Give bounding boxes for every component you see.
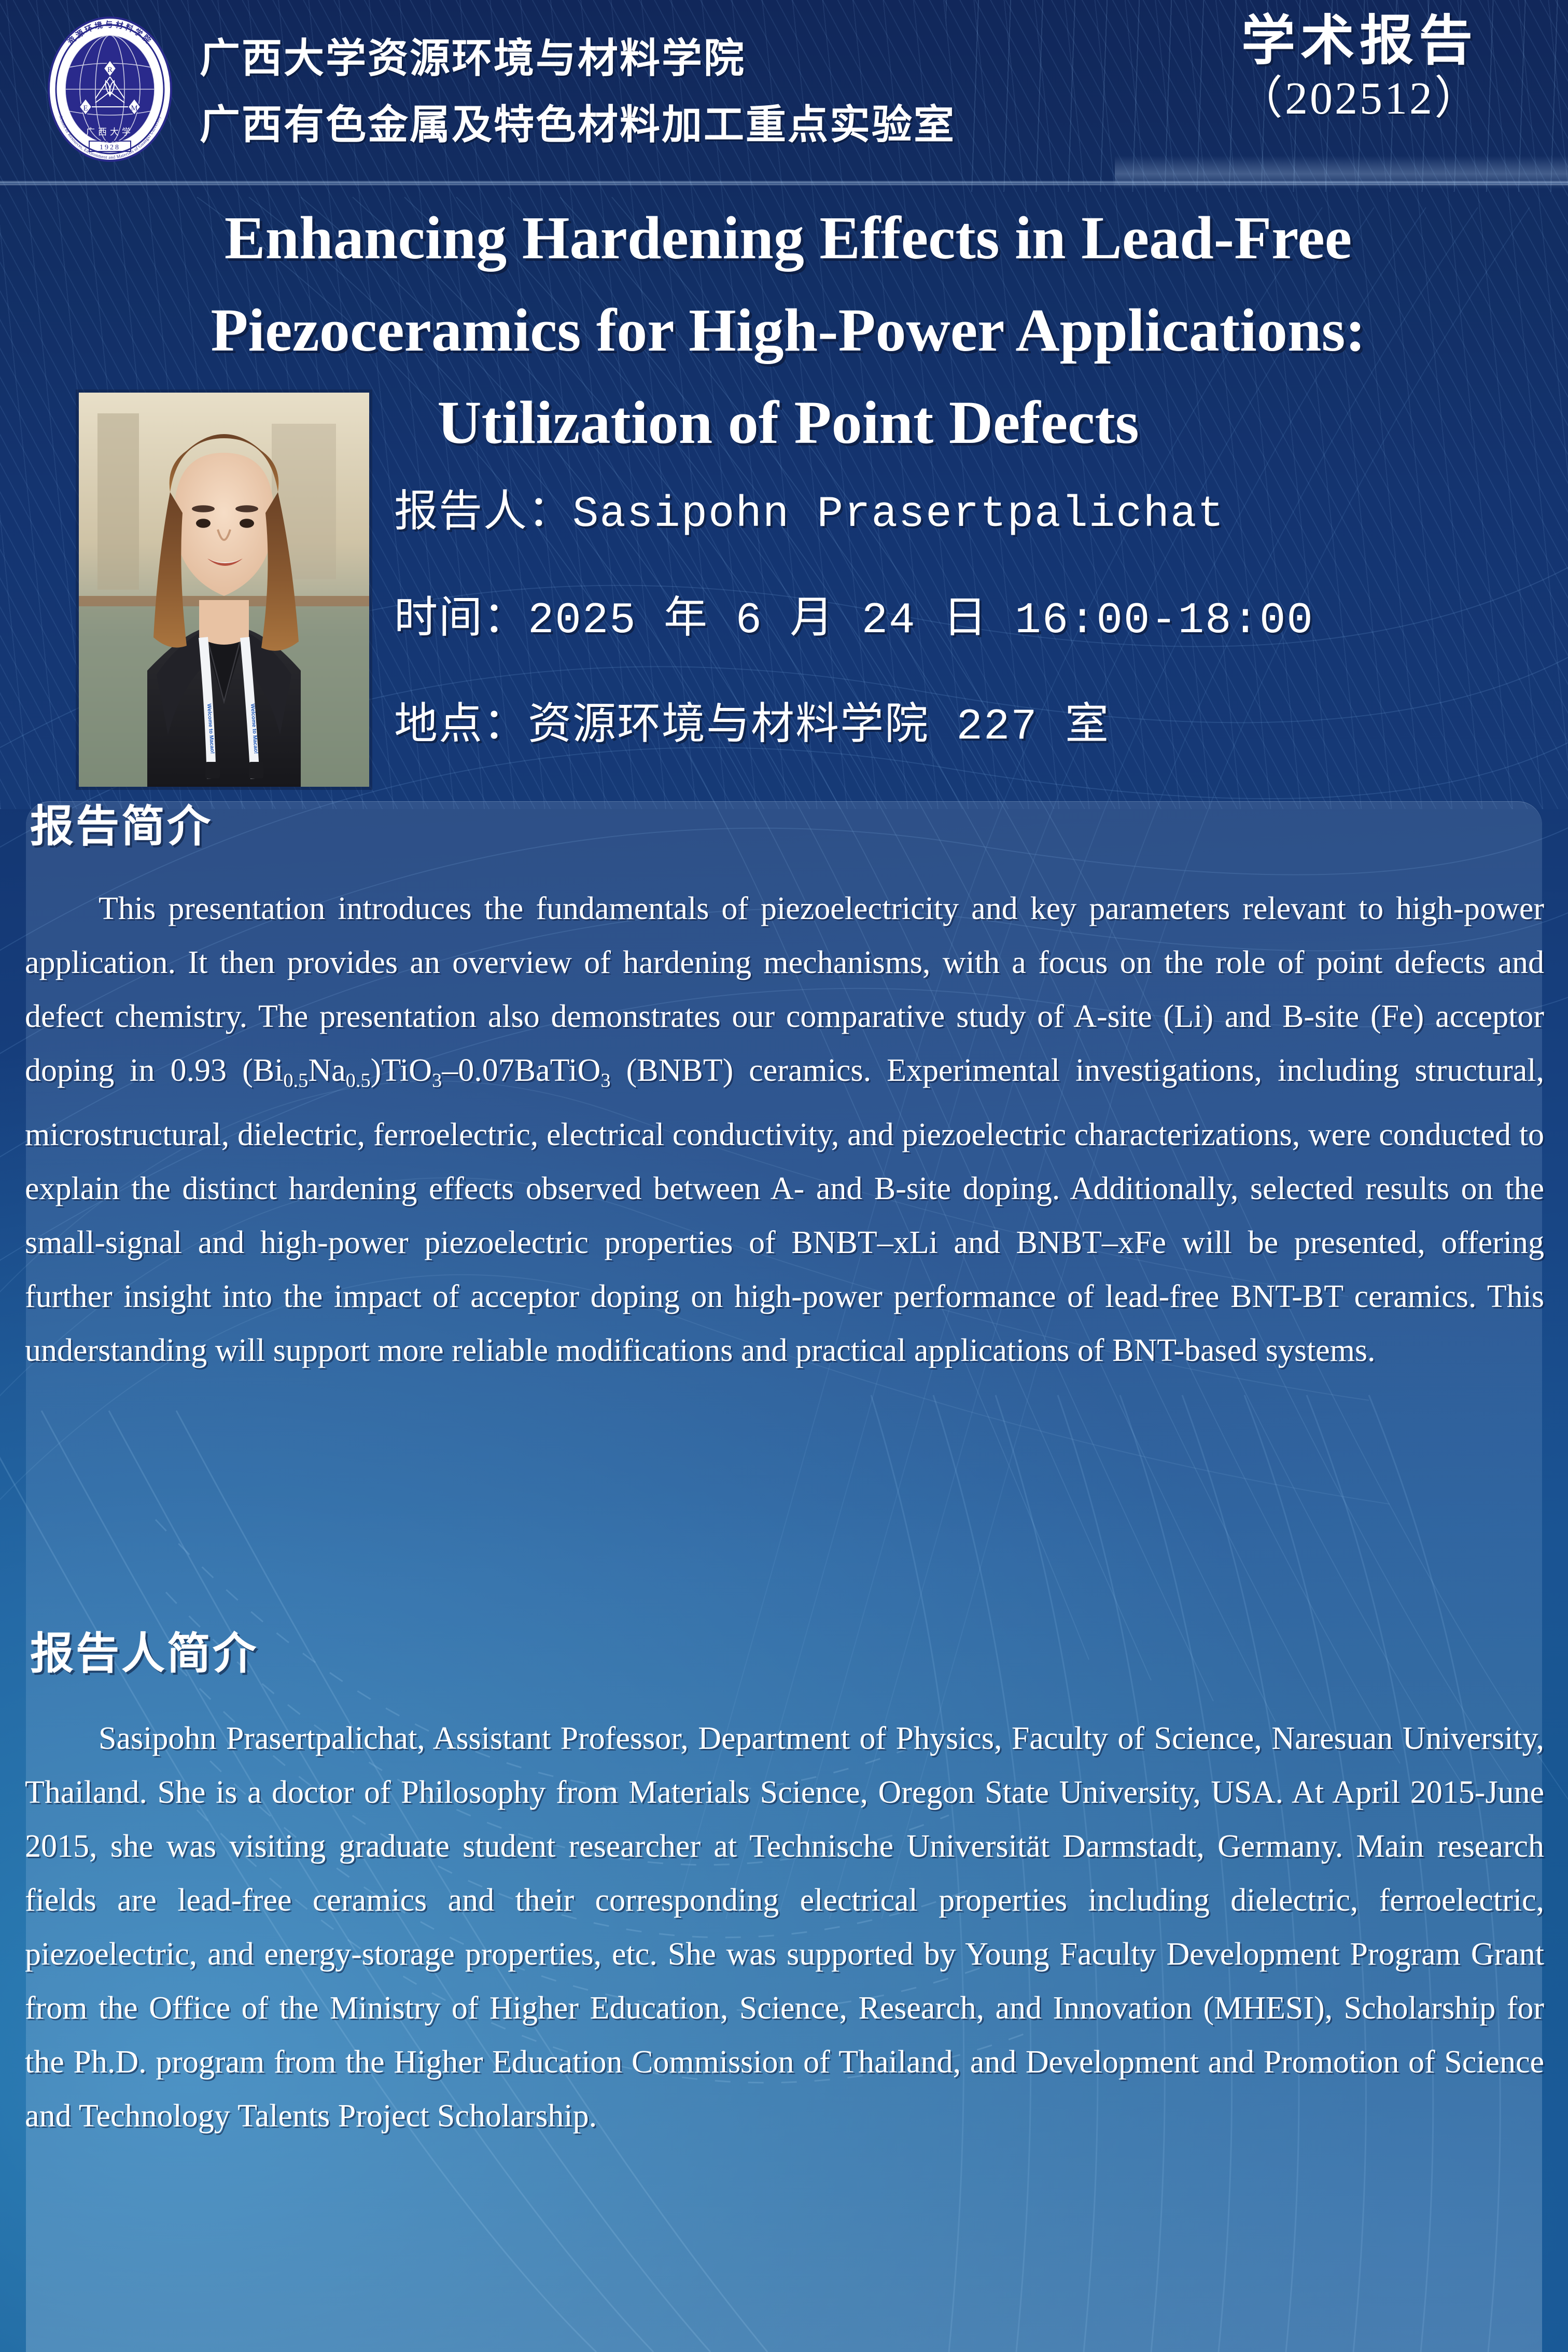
abstract-sub-4: 3 (600, 1070, 610, 1092)
abstract-sub-1: 0.5 (283, 1070, 308, 1092)
bio-heading: 报告人简介 (30, 1629, 258, 1678)
poster-header: R E M 资源环境与材料学院 (0, 0, 1568, 182)
organization-titles: 广西大学资源环境与材料学院 广西有色金属及特色材料加工重点实验室 (200, 25, 1174, 158)
svg-text:R: R (107, 66, 113, 74)
report-badge-title: 学术报告 (1178, 10, 1541, 72)
abstract-heading: 报告简介 (30, 801, 213, 851)
title-line-1: Enhancing Hardening Effects in Lead-Free (78, 192, 1499, 284)
meta-time: 时间：2025 年 6 月 24 日 16:00-18:00 (394, 568, 1561, 674)
svg-text:1928: 1928 (100, 144, 120, 151)
abstract-sub-2: 0.5 (346, 1070, 371, 1092)
organization-line-1: 广西大学资源环境与材料学院 (200, 25, 1174, 91)
svg-text:广西大学: 广西大学 (86, 127, 134, 137)
svg-text:E: E (83, 104, 88, 113)
svg-text:M: M (131, 104, 137, 113)
speaker-photo: Welcome to Macao! Welcome to Macao! (79, 393, 369, 787)
lecture-meta: 报告人：Sasipohn Prasertpalichat 时间：2025 年 6… (394, 462, 1561, 781)
abstract-body: This presentation introduces the fundame… (25, 882, 1544, 1377)
meta-speaker: 报告人：Sasipohn Prasertpalichat (394, 462, 1561, 568)
title-line-2: Piezoceramics for High-Power Application… (78, 284, 1499, 377)
report-badge: 学术报告 （202512） (1178, 10, 1541, 127)
abstract-part-2: Na (308, 1053, 345, 1088)
bio-body: Sasipohn Prasertpalichat, Assistant Prof… (25, 1711, 1544, 2143)
university-logo-icon: R E M 资源环境与材料学院 (32, 11, 188, 167)
report-badge-number: （202512） (1178, 72, 1541, 127)
abstract-part-5: (BNBT) ceramics. Experimental investigat… (25, 1053, 1544, 1368)
abstract-sub-3: 3 (432, 1070, 442, 1092)
meta-place: 地点：资源环境与材料学院 227 室 (394, 674, 1561, 781)
organization-line-2: 广西有色金属及特色材料加工重点实验室 (200, 91, 1174, 158)
academic-lecture-poster: R E M 资源环境与材料学院 (0, 0, 1568, 2352)
abstract-part-4: –0.07BaTiO (442, 1053, 600, 1088)
abstract-part-3: )TiO (371, 1053, 432, 1088)
